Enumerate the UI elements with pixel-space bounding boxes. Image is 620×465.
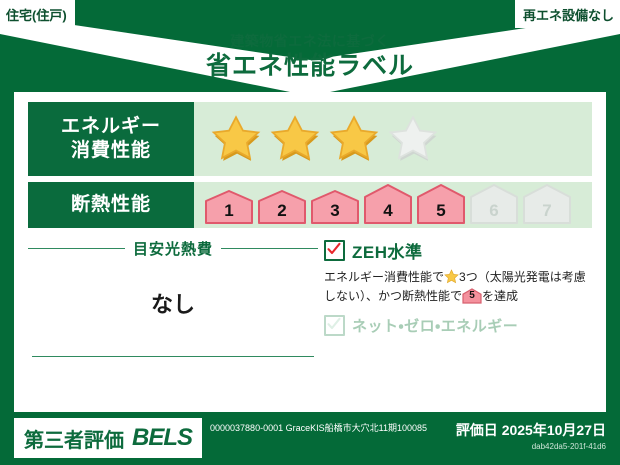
star-filled-icon: [208, 112, 264, 166]
insulation-level-7: 7: [522, 183, 572, 225]
insulation-level-number: 4: [363, 201, 413, 221]
energy-performance-value: [194, 102, 592, 176]
zeh-block: ZEH水準 エネルギー消費性能で 3つ（太陽光発電は考慮しない）、かつ断熱性能で…: [318, 238, 592, 336]
net-zero-energy-label: ネット・ゼロ・エネルギー: [352, 315, 518, 336]
insulation-level-3: 3: [310, 189, 360, 225]
energy-label-line1: エネルギー: [61, 115, 161, 139]
inline-house-number: 5: [462, 288, 482, 304]
rule-left: [28, 248, 125, 249]
insulation-level-number: 5: [416, 201, 466, 221]
zeh-desc-part3: を達成: [482, 289, 518, 303]
label-heading: 建築物省エネ法に基づく 省エネ性能ラベル: [0, 33, 620, 82]
document-hash: dab42da5-201f-41d6: [456, 442, 606, 451]
insulation-level-6: 6: [469, 183, 519, 225]
zeh-description: エネルギー消費性能で 3つ（太陽光発電は考慮しない）、かつ断熱性能で 5 を達成: [324, 268, 592, 305]
label-card: エネルギー 消費性能 断熱性能 1234567 目安光熱費 なし: [14, 92, 606, 412]
insulation-level-1: 1: [204, 189, 254, 225]
insulation-level-2: 2: [257, 189, 307, 225]
rule-right: [221, 248, 318, 249]
insulation-level-scale: 1234567: [204, 183, 572, 228]
evaluation-date-value: 2025年10月27日: [502, 422, 606, 438]
energy-performance-row: エネルギー 消費性能: [28, 92, 592, 176]
energy-label-line2: 消費性能: [71, 139, 151, 163]
bels-logo: 第三者評価 BELS: [14, 418, 202, 458]
utility-cost-header: 目安光熱費: [28, 238, 318, 259]
insulation-level-number: 6: [469, 201, 519, 221]
footer-bar: 第三者評価 BELS 0000037880-0001 GraceKIS船橋市大穴…: [0, 412, 620, 465]
badge-building-type: 住宅(住戸): [0, 0, 75, 28]
zeh-desc-star-count: 3つ（太陽光発電: [459, 270, 550, 284]
energy-performance-label: エネルギー 消費性能: [28, 102, 194, 176]
insulation-performance-value: 1234567: [194, 182, 592, 228]
bels-jp-text: 第三者評価: [24, 424, 124, 453]
insulation-level-number: 2: [257, 201, 307, 221]
inline-house-badge-icon: 5: [462, 288, 482, 304]
certificate-id: 0000037880-0001 GraceKIS船橋市大穴北11期100085: [202, 418, 456, 458]
star-empty-icon: [385, 112, 441, 166]
insulation-level-number: 7: [522, 201, 572, 221]
zeh-desc-part1: エネルギー消費性能で: [324, 270, 444, 284]
checkbox-checked-icon: [324, 240, 345, 261]
insulation-level-number: 3: [310, 201, 360, 221]
evaluation-date-block: 評価日 2025年10月27日 dab42da5-201f-41d6: [456, 418, 606, 458]
net-zero-energy-row: ネット・ゼロ・エネルギー: [324, 315, 592, 336]
insulation-level-5: 5: [416, 183, 466, 225]
evaluation-date-label: 評価日: [456, 422, 498, 438]
zeh-title: ZEH水準: [352, 238, 423, 263]
utility-cost-block: 目安光熱費 なし: [28, 238, 318, 336]
checkbox-unchecked-icon: [324, 315, 345, 336]
utility-cost-underline: [32, 356, 314, 357]
insulation-performance-row: 断熱性能 1234567: [28, 182, 592, 228]
energy-performance-label: 住宅(住戸) 再エネ設備なし 建築物省エネ法に基づく 省エネ性能ラベル エネルギ…: [0, 0, 620, 465]
badge-renewable-energy: 再エネ設備なし: [515, 0, 620, 28]
star-rating: [208, 112, 441, 166]
utility-cost-value: なし: [28, 287, 318, 319]
bottom-section: 目安光熱費 なし ZEH水準 エネルギー消費性能で: [28, 238, 592, 336]
star-filled-icon: [326, 112, 382, 166]
insulation-performance-label: 断熱性能: [28, 182, 194, 228]
utility-cost-title: 目安光熱費: [133, 238, 213, 259]
bels-en-text: BELS: [132, 424, 192, 452]
footer-inner: 第三者評価 BELS 0000037880-0001 GraceKIS船橋市大穴…: [14, 418, 606, 458]
star-filled-icon: [267, 112, 323, 166]
heading-subtitle: 建築物省エネ法に基づく: [0, 33, 620, 50]
heading-title: 省エネ性能ラベル: [0, 51, 620, 82]
insulation-level-number: 1: [204, 201, 254, 221]
evaluation-date: 評価日 2025年10月27日: [456, 420, 606, 440]
insulation-level-4: 4: [363, 183, 413, 225]
zeh-header: ZEH水準: [324, 238, 592, 263]
inline-star-icon: [444, 269, 459, 284]
